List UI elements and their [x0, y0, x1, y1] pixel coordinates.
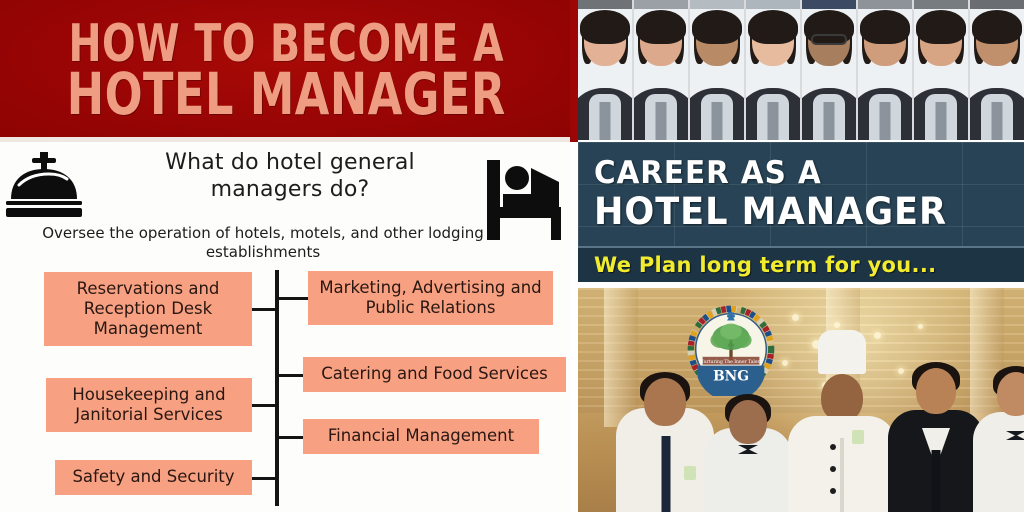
staff-waitress-female: [700, 390, 796, 512]
node-reservations-reception: Reservations and Reception Desk Manageme…: [44, 272, 252, 346]
banner-underline: [0, 137, 572, 142]
staff-chef: [784, 330, 900, 512]
connector-reservations: [252, 308, 277, 311]
student-portrait-6: [858, 0, 912, 140]
student-portrait-1: [578, 0, 632, 140]
poster-title-banner: HOW TO BECOME A HOTEL MANAGER: [0, 0, 572, 142]
tree-spine: [275, 270, 279, 506]
question-heading: What do hotel general managers do?: [125, 150, 455, 204]
connector-marketing: [277, 297, 310, 300]
left-infographic-panel: HOW TO BECOME A HOTEL MANAGER What do ho…: [0, 0, 570, 512]
hospitality-team-photo: Nurturing The Inner Talent BNG: [578, 288, 1024, 512]
student-portrait-8: [970, 0, 1024, 140]
infographic-poster: HOW TO BECOME A HOTEL MANAGER What do ho…: [0, 0, 1024, 512]
right-promo-panel: CAREER AS A HOTEL MANAGER We Plan long t…: [570, 0, 1024, 512]
node-housekeeping-janitorial: Housekeeping and Janitorial Services: [46, 378, 252, 432]
connector-housekeeping: [252, 404, 277, 407]
connector-safety: [252, 477, 277, 480]
bokeh-light: [834, 322, 840, 328]
bng-logo-text: BNG: [713, 368, 749, 384]
student-portrait-3: [690, 0, 744, 140]
tagline-bar: We Plan long term for you...: [578, 246, 1024, 282]
student-portrait-4: [746, 0, 800, 140]
connector-financial: [277, 436, 305, 439]
staff-hostess-female: [970, 362, 1024, 512]
bng-logo-motto: Nurturing The Inner Talent: [700, 359, 763, 365]
career-banner-line2: HOTEL MANAGER: [594, 193, 1003, 230]
glasses-icon: [811, 34, 847, 45]
red-edge-strip: [570, 0, 578, 142]
career-banner-line1: CAREER AS A: [594, 158, 1003, 189]
question-subtitle: Oversee the operation of hotels, motels,…: [38, 224, 488, 262]
student-portrait-5: [802, 0, 856, 140]
node-marketing-advertising: Marketing, Advertising and Public Relati…: [308, 271, 553, 325]
connector-catering: [277, 374, 305, 377]
bed-lodging-icon: [485, 152, 563, 242]
student-portrait-7: [914, 0, 968, 140]
bokeh-light: [918, 324, 923, 329]
career-banner: CAREER AS A HOTEL MANAGER We Plan long t…: [578, 142, 1024, 282]
student-portrait-2: [634, 0, 688, 140]
student-portrait-strip: [578, 0, 1024, 140]
bokeh-light: [792, 314, 799, 321]
poster-title-line2: HOTEL MANAGER: [66, 67, 505, 124]
responsibilities-tree: Reservations and Reception Desk Manageme…: [0, 268, 570, 512]
career-tagline: We Plan long term for you...: [594, 253, 936, 277]
node-financial-management: Financial Management: [303, 419, 539, 454]
node-catering-food: Catering and Food Services: [303, 357, 566, 392]
node-safety-security: Safety and Security: [55, 460, 252, 495]
